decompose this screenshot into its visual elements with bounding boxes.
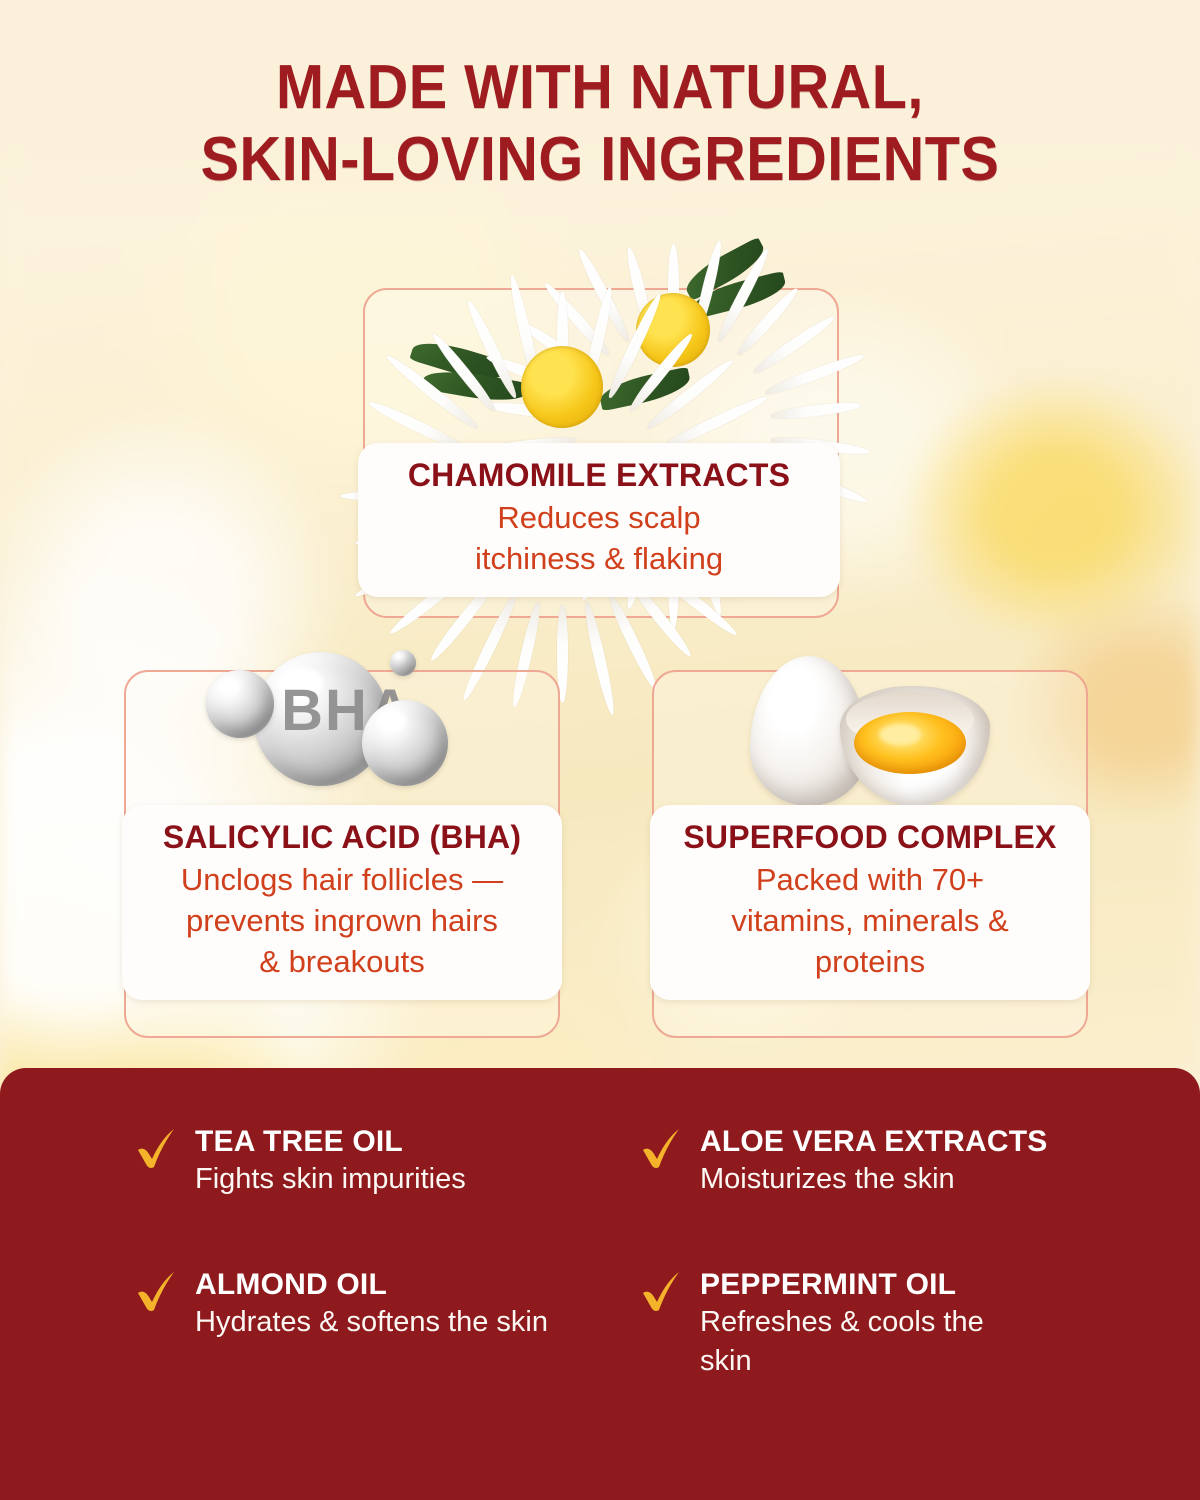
- card-text-panel: CHAMOMILE EXTRACTS Reduces scalp itchine…: [358, 443, 840, 597]
- benefit-text: TEA TREE OIL Fights skin impurities: [195, 1122, 466, 1199]
- benefit-description: Hydrates & softens the skin: [195, 1303, 548, 1342]
- benefit-text: PEPPERMINT OIL Refreshes & cools the ski…: [700, 1265, 1030, 1381]
- card-title: CHAMOMILE EXTRACTS: [368, 455, 830, 495]
- benefit-item: ALMOND OIL Hydrates & softens the skin: [135, 1265, 640, 1381]
- benefit-text: ALMOND OIL Hydrates & softens the skin: [195, 1265, 548, 1342]
- benefit-item: TEA TREE OIL Fights skin impurities: [135, 1122, 640, 1199]
- bha-molecule-icon: BHA: [202, 648, 492, 828]
- card-desc-line-1: Packed with 70+: [660, 859, 1080, 900]
- benefit-name: ALOE VERA EXTRACTS: [700, 1125, 1048, 1158]
- card-desc-line-2: vitamins, minerals &: [660, 900, 1080, 941]
- checkmark-icon: [135, 1126, 177, 1172]
- card-desc-line-1: Unclogs hair follicles —: [132, 859, 552, 900]
- checkmark-icon: [135, 1269, 177, 1315]
- benefit-name: ALMOND OIL: [195, 1268, 387, 1301]
- chamomile-flowers-icon: [403, 226, 803, 456]
- card-description: Packed with 70+ vitamins, minerals & pro…: [660, 859, 1080, 982]
- benefit-description: Fights skin impurities: [195, 1160, 466, 1199]
- card-title: SUPERFOOD COMPLEX: [660, 817, 1080, 857]
- card-desc-line-1: Reduces scalp: [368, 497, 830, 538]
- benefit-description: Refreshes & cools the skin: [700, 1303, 1030, 1381]
- headline-line-1: MADE WITH NATURAL,: [42, 52, 1158, 124]
- benefit-name: TEA TREE OIL: [195, 1125, 403, 1158]
- card-text-panel: SALICYLIC ACID (BHA) Unclogs hair follic…: [122, 805, 562, 1000]
- benefits-grid: TEA TREE OIL Fights skin impurities ALOE…: [135, 1122, 1135, 1381]
- card-desc-line-3: proteins: [660, 941, 1080, 982]
- ingredient-card-chamomile: CHAMOMILE EXTRACTS Reduces scalp itchine…: [363, 288, 839, 618]
- benefit-name: PEPPERMINT OIL: [700, 1268, 956, 1301]
- cracked-egg-icon: [732, 646, 1012, 826]
- benefits-panel: TEA TREE OIL Fights skin impurities ALOE…: [0, 1068, 1200, 1500]
- ingredient-card-superfood: SUPERFOOD COMPLEX Packed with 70+ vitami…: [652, 670, 1088, 1038]
- card-title: SALICYLIC ACID (BHA): [132, 817, 552, 857]
- card-description: Unclogs hair follicles — prevents ingrow…: [132, 859, 552, 982]
- checkmark-icon: [640, 1126, 682, 1172]
- page-title: MADE WITH NATURAL, SKIN-LOVING INGREDIEN…: [42, 52, 1158, 196]
- benefit-description: Moisturizes the skin: [700, 1160, 1048, 1199]
- ingredient-card-salicylic-acid: BHA SALICYLIC ACID (BHA) Unclogs hair fo…: [124, 670, 560, 1038]
- card-text-panel: SUPERFOOD COMPLEX Packed with 70+ vitami…: [650, 805, 1090, 1000]
- headline-line-2: SKIN-LOVING INGREDIENTS: [42, 124, 1158, 196]
- card-desc-line-3: & breakouts: [132, 941, 552, 982]
- benefit-text: ALOE VERA EXTRACTS Moisturizes the skin: [700, 1122, 1048, 1199]
- card-desc-line-2: itchiness & flaking: [368, 538, 830, 579]
- benefit-item: ALOE VERA EXTRACTS Moisturizes the skin: [640, 1122, 1135, 1199]
- card-desc-line-2: prevents ingrown hairs: [132, 900, 552, 941]
- checkmark-icon: [640, 1269, 682, 1315]
- card-description: Reduces scalp itchiness & flaking: [368, 497, 830, 579]
- benefit-item: PEPPERMINT OIL Refreshes & cools the ski…: [640, 1265, 1135, 1381]
